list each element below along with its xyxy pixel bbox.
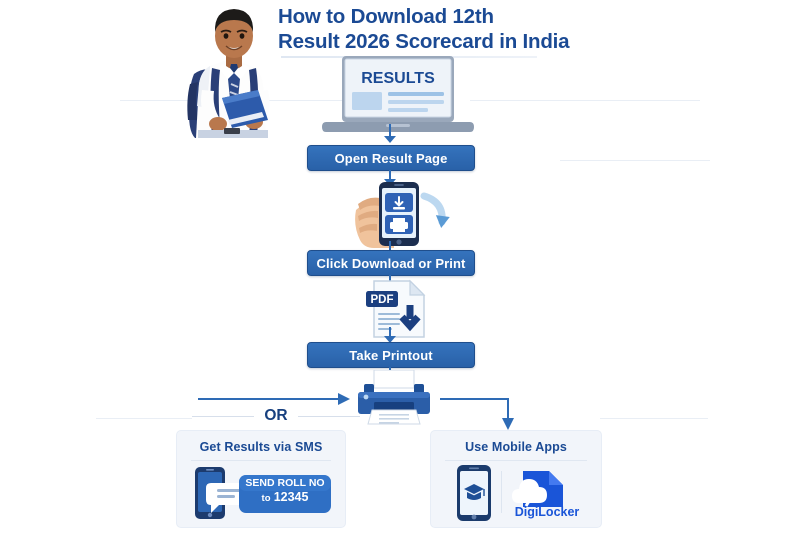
infographic-canvas: How to Download 12th Result 2026 Scoreca… [0, 0, 800, 533]
phone-download-print-illustration [352, 180, 458, 248]
sms-illustration: SEND ROLL NO to 12345 [193, 467, 333, 519]
mobile-apps-panel: Use Mobile Apps DigiLocker [430, 430, 602, 528]
page-title: How to Download 12th Result 2026 Scoreca… [278, 4, 578, 54]
step-take-printout-label: Take Printout [349, 348, 432, 363]
step-open-result-page[interactable]: Open Result Page [307, 145, 475, 171]
student-illustration [176, 2, 300, 138]
step-open-result-page-label: Open Result Page [335, 151, 448, 166]
apps-panel-heading: Use Mobile Apps [431, 431, 601, 454]
title-line-2: Result 2026 Scorecard in India [278, 29, 578, 54]
or-label: OR [254, 407, 297, 425]
step-click-download-or-print[interactable]: Click Download or Print [307, 250, 475, 276]
step-click-download-or-print-label: Click Download or Print [317, 256, 466, 271]
sms-bubble-line-2: to 12345 [241, 491, 329, 505]
sms-bubble-prefix: to [262, 493, 271, 504]
arrow-branch-right-to-apps [440, 392, 516, 430]
sms-panel: Get Results via SMS SEND ROLL NO to 1234… [176, 430, 346, 528]
arrow-branch-left-to-printer [198, 392, 350, 406]
apps-panel-rule [445, 460, 587, 461]
step-take-printout[interactable]: Take Printout [307, 342, 475, 368]
sms-panel-heading: Get Results via SMS [177, 431, 345, 454]
arrow-pdf-to-step3 [383, 327, 397, 343]
arrow-laptop-to-step1 [383, 124, 397, 143]
or-divider-line-right [298, 416, 360, 417]
apps-illustration: DigiLocker [443, 465, 589, 521]
sms-bubble-line-1: SEND ROLL NO [241, 477, 329, 489]
guide-line-right [470, 100, 700, 101]
guide-line-right-2 [560, 160, 710, 161]
or-divider-line-left [192, 416, 254, 417]
guide-line-bottom-left [96, 418, 192, 419]
or-divider: OR [192, 405, 360, 427]
sms-panel-rule [191, 460, 331, 461]
digilocker-label: DigiLocker [505, 505, 589, 519]
sms-bubble-number: 12345 [274, 490, 309, 504]
printer-illustration [348, 370, 440, 426]
guide-line-bottom-right [600, 418, 708, 419]
title-line-1: How to Download 12th [278, 5, 494, 28]
